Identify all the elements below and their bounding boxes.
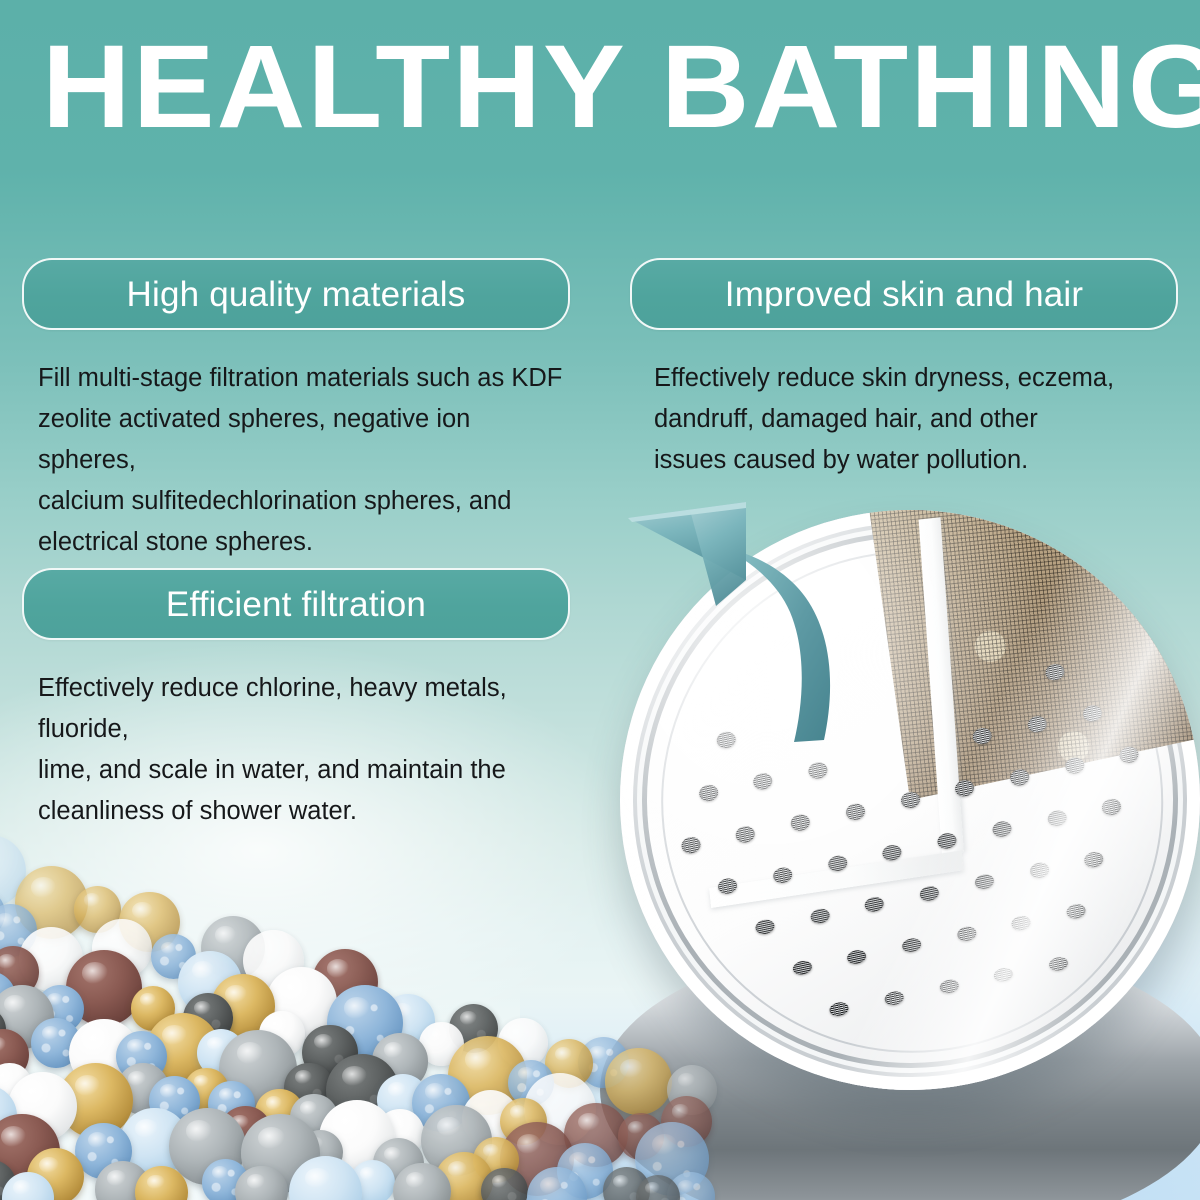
filter-bead [372, 1033, 428, 1089]
feature-body-line: cleanliness of shower water. [38, 791, 584, 832]
filter-bead [326, 1054, 399, 1127]
filter-bead [197, 1029, 245, 1077]
feature-body-3: Effectively reduce chlorine, heavy metal… [22, 668, 584, 832]
filter-bead [66, 950, 142, 1026]
filter-bead [289, 1156, 362, 1200]
filter-bead [0, 971, 16, 1026]
filter-bead [312, 949, 378, 1015]
filter-bead [0, 904, 37, 957]
filter-bead [202, 1159, 249, 1200]
feature-body-line: calcium sulfitedechlorination spheres, a… [38, 481, 568, 522]
filter-bead [241, 1114, 319, 1192]
filter-bead [149, 1076, 199, 1126]
page-title: HEALTHY BATHING [42, 26, 1200, 150]
feature-heading-label-2: Improved skin and hair [725, 277, 1083, 312]
filter-bead [421, 1105, 491, 1175]
filter-bead [184, 1068, 228, 1112]
filter-bead [2, 1172, 55, 1200]
filter-bead [473, 1137, 519, 1183]
filter-bead [208, 1081, 255, 1128]
filter-bead [95, 1161, 152, 1200]
filter-bead [116, 1031, 167, 1082]
filter-bead [255, 1089, 304, 1138]
filter-bead [31, 1018, 81, 1068]
filter-bead [219, 1106, 272, 1159]
filter-bead [435, 1152, 493, 1200]
filter-bead [169, 1108, 246, 1185]
filter-bead [243, 930, 304, 991]
filter-bead [449, 1004, 499, 1054]
filter-bead [15, 866, 88, 939]
filter-bead [36, 985, 84, 1033]
filter-bead [0, 945, 4, 989]
filter-bead [376, 1109, 424, 1157]
filter-bead [235, 1166, 288, 1200]
feature-block-improved-skin-and-hair: Improved skin and hair Effectively reduc… [630, 258, 1178, 481]
filter-bead [201, 916, 265, 980]
filter-bead [19, 927, 83, 991]
filter-bead [500, 1098, 547, 1145]
filter-bead [117, 1063, 169, 1115]
filter-bead [120, 1108, 188, 1176]
feature-body-1: Fill multi-stage filtration materials su… [22, 358, 568, 563]
filter-bead [327, 985, 403, 1061]
feature-heading-label-3: Efficient filtration [166, 587, 426, 622]
feature-body-line: zeolite activated spheres, negative ion … [38, 399, 568, 481]
filter-bead [545, 1039, 594, 1088]
filter-bead [524, 1073, 596, 1145]
filter-bead [27, 1148, 85, 1200]
feature-heading-pill-2: Improved skin and hair [630, 258, 1178, 330]
filter-bead [178, 951, 242, 1015]
filter-bead [74, 886, 121, 933]
filter-bead [290, 1094, 338, 1142]
filter-bead [448, 1036, 527, 1115]
filter-bead [259, 1011, 305, 1057]
feature-body-line: Effectively reduce skin dryness, eczema, [654, 358, 1154, 399]
filter-bead [412, 1074, 470, 1132]
filter-bead [0, 1085, 17, 1147]
filter-bead [0, 985, 54, 1049]
filter-bead [0, 1007, 6, 1052]
filter-bead [69, 1019, 138, 1088]
filter-bead [500, 1122, 573, 1195]
filter-bead [131, 986, 175, 1030]
filter-bead [146, 1013, 220, 1087]
filter-bead [135, 1166, 188, 1200]
product-photo-shower-filter [600, 470, 1200, 1200]
feature-heading-pill-3: Efficient filtration [22, 568, 570, 640]
filter-bead [393, 1163, 450, 1200]
filter-bead [481, 1168, 527, 1200]
filter-bead [350, 1160, 395, 1200]
filter-bead [298, 1130, 344, 1176]
filter-bead [151, 934, 196, 979]
filter-bead [119, 892, 180, 953]
filter-bead [211, 974, 276, 1039]
product-infographic-poster: HEALTHY BATHING High quality materials F… [0, 0, 1200, 1200]
feature-body-line: Effectively reduce chlorine, heavy metal… [38, 668, 584, 750]
feature-heading-pill-1: High quality materials [22, 258, 570, 330]
filter-bead [183, 993, 233, 1043]
filter-bead [377, 1074, 429, 1126]
filter-bead [219, 1030, 297, 1108]
filter-bead [75, 1123, 131, 1179]
filter-bead [0, 1114, 60, 1190]
feature-body-line: Fill multi-stage filtration materials su… [38, 358, 568, 399]
feature-block-efficient-filtration: Efficient filtration Effectively reduce … [22, 568, 570, 832]
filter-bead [0, 1029, 29, 1081]
feature-body-line: electrical stone spheres. [38, 522, 568, 563]
filter-bead [266, 967, 338, 1039]
filter-bead [302, 1025, 358, 1081]
filter-bead [0, 946, 39, 998]
filter-bead [284, 1063, 333, 1112]
filter-bead [508, 1060, 554, 1106]
filter-bead [498, 1018, 548, 1068]
feature-block-high-quality-materials: High quality materials Fill multi-stage … [22, 258, 570, 563]
filter-bead [527, 1167, 587, 1200]
filter-bead [373, 1138, 425, 1190]
filter-bead [419, 1022, 464, 1067]
filter-bead [0, 1160, 16, 1200]
filter-bead [319, 1100, 395, 1176]
filter-bead [0, 889, 5, 938]
feature-body-line: dandruff, damaged hair, and other [654, 399, 1154, 440]
filter-bead [58, 1063, 133, 1138]
feature-body-line: lime, and scale in water, and maintain t… [38, 750, 584, 791]
filter-bead [0, 835, 26, 907]
feature-heading-label-1: High quality materials [127, 277, 466, 312]
filter-bead [8, 1072, 77, 1141]
feature-body-2: Effectively reduce skin dryness, eczema,… [630, 358, 1154, 481]
filter-bead [0, 1063, 32, 1108]
filter-bead [92, 919, 151, 978]
flow-arrow-icon [620, 488, 920, 758]
filter-bead [381, 994, 435, 1048]
filter-bead [462, 1090, 519, 1147]
